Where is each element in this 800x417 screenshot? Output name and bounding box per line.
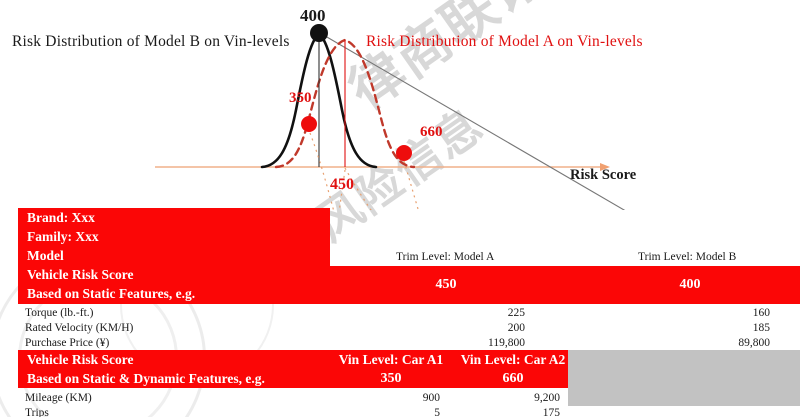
static-score-model-b: 400 [644,277,736,293]
static-section-title-line1: Vehicle Risk Score [27,267,134,283]
vin-point-660 [396,145,412,161]
dynamic-row-value-a2: 9,200 [460,392,560,404]
chart-peak-value-label: 400 [300,6,326,26]
vin-point-350 [301,116,317,132]
dynamic-section-title-line2: Based on Static & Dynamic Features, e.g. [27,371,265,387]
dynamic-row-label: Trips [25,407,49,417]
static-row-label: Rated Velocity (KM/H) [25,322,133,334]
static-section-title-line2: Based on Static Features, e.g. [27,286,195,302]
static-row-value-b: 160 [670,307,770,319]
screenshot-root: 律商联讯 风险信息 [0,0,800,417]
static-row-value-b: 89,800 [670,337,770,349]
dynamic-score-car-a2: 660 [452,371,574,387]
family-label: Family: Xxx [27,229,99,245]
static-row-value-a: 225 [425,307,525,319]
leader-660-to-table [404,161,466,210]
chart-marker-label-450: 450 [330,176,354,194]
static-row-value-b: 185 [670,322,770,334]
dynamic-score-car-a1: 350 [330,371,452,387]
chart-title-model-a: Risk Distribution of Model A on Vin-leve… [366,33,643,51]
dynamic-section-title-line1: Vehicle Risk Score [27,352,134,368]
vin-level-car-a2-header: Vin Level: Car A2 [452,352,574,368]
trim-level-model-b-header: Trim Level: Model B [638,251,736,263]
static-row-value-a: 119,800 [425,337,525,349]
static-row-label: Torque (lb.-ft.) [25,307,94,319]
brand-label: Brand: Xxx [27,210,95,226]
dynamic-row-label: Mileage (KM) [25,392,92,404]
empty-gray-block [568,350,800,406]
vehicle-risk-table: Brand: Xxx Family: Xxx Model Vehicle Ris… [0,205,800,417]
chart-point-label-350: 350 [289,90,312,107]
dynamic-row-value-a1: 5 [340,407,440,417]
dynamic-row-value-a1: 900 [340,392,440,404]
vin-level-car-a1-header: Vin Level: Car A1 [330,352,452,368]
chart-point-label-660: 660 [420,124,443,141]
dynamic-row-value-a2: 175 [460,407,560,417]
model-label: Model [27,248,64,264]
chart-x-axis-label: Risk Score [570,167,636,184]
risk-distribution-chart: Risk Distribution of Model B on Vin-leve… [0,0,800,210]
static-row-label: Purchase Price (¥) [25,337,109,349]
trim-level-model-a-header: Trim Level: Model A [396,251,494,263]
chart-title-model-b: Risk Distribution of Model B on Vin-leve… [12,33,290,51]
chart-canvas [0,0,800,210]
static-row-value-a: 200 [425,322,525,334]
peak-marker-400 [310,24,328,42]
static-score-model-a: 450 [400,277,492,293]
